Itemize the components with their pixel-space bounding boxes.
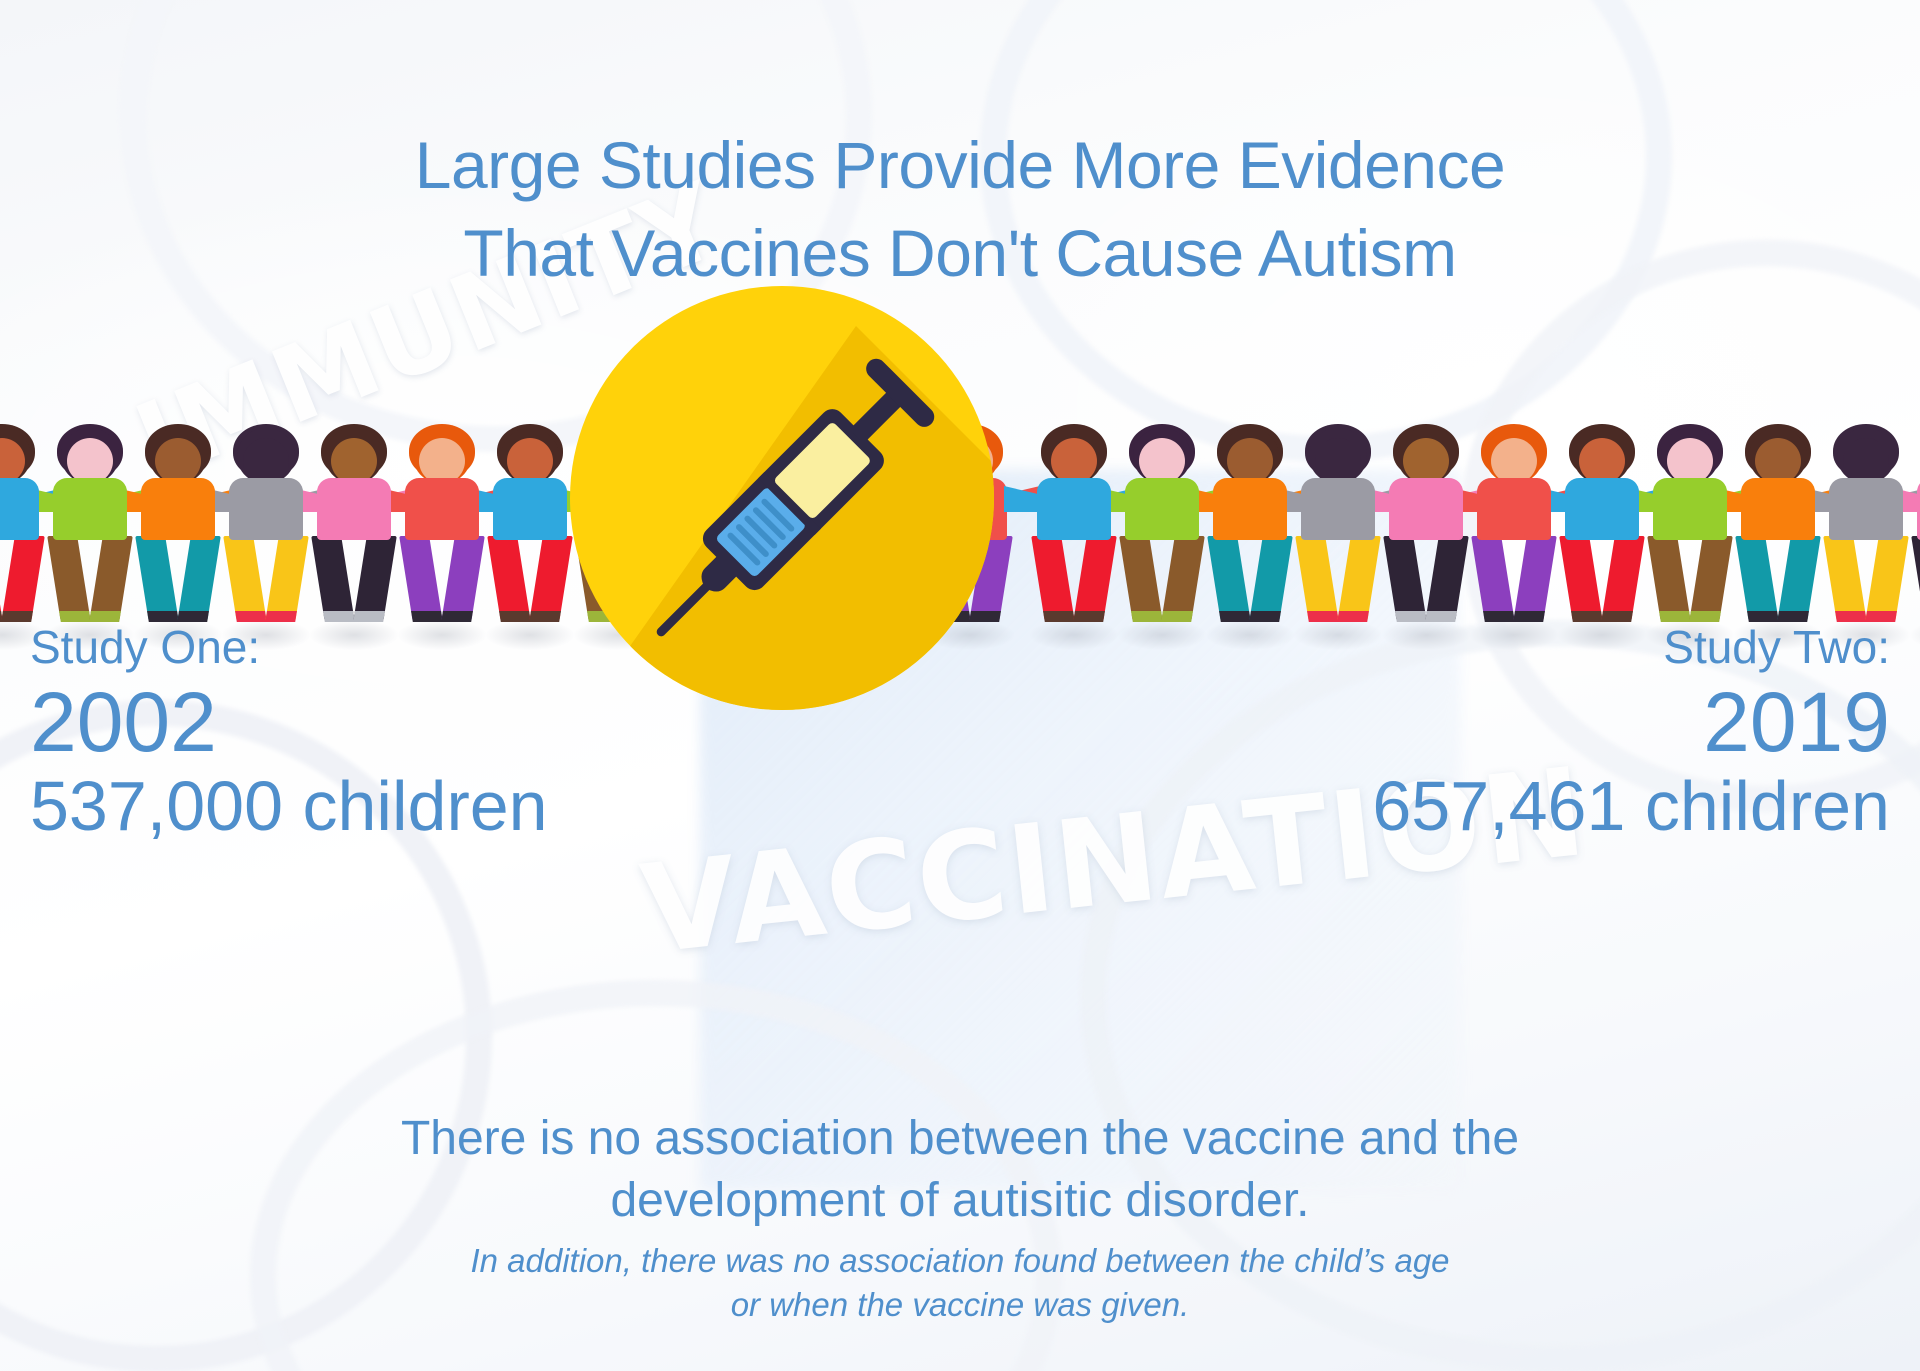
figure-shoe	[1571, 611, 1603, 622]
study-one-stats: Study One: 2002 537,000 children	[30, 622, 548, 845]
figure-torso	[0, 478, 39, 540]
figure-torso	[1037, 478, 1111, 540]
figure-shoe	[1513, 611, 1545, 622]
figure-leg	[1647, 536, 1691, 622]
figure-leg	[1425, 536, 1469, 622]
conclusion-block: There is no association between the vacc…	[0, 1108, 1920, 1327]
paper-doll-figure	[1730, 428, 1826, 628]
conclusion-sub-line-2: or when the vaccine was given.	[0, 1283, 1920, 1327]
conclusion-main: There is no association between the vacc…	[0, 1108, 1920, 1233]
figure-leg	[1735, 536, 1779, 622]
figure-shoe	[1425, 611, 1457, 622]
figure-leg	[1559, 536, 1603, 622]
figure-leg	[1337, 536, 1381, 622]
figure-leg	[177, 536, 221, 622]
figure-leg	[1031, 536, 1075, 622]
figure-shoe	[323, 611, 355, 622]
figure-torso	[1477, 478, 1551, 540]
figure-shoe	[1219, 611, 1251, 622]
figure-torso	[1301, 478, 1375, 540]
figure-shoe	[1, 611, 33, 622]
figure-shoe	[265, 611, 297, 622]
paper-doll-figure	[1818, 428, 1914, 628]
figure-shoe	[411, 611, 443, 622]
figure-leg	[311, 536, 355, 622]
page-title: Large Studies Provide More Evidence That…	[0, 122, 1920, 298]
figure-leg	[1249, 536, 1293, 622]
paper-doll-figure	[1642, 428, 1738, 628]
figure-shoe	[1131, 611, 1163, 622]
figure-shoe	[1249, 611, 1281, 622]
figure-leg	[1689, 536, 1733, 622]
figure-torso	[1653, 478, 1727, 540]
infographic-poster: IMMUNITY VACCINATION Large Studies Provi…	[0, 0, 1920, 1371]
figure-shoe	[1161, 611, 1193, 622]
figure-leg	[47, 536, 91, 622]
figure-torso	[1389, 478, 1463, 540]
page-title-line-2: That Vaccines Don't Cause Autism	[0, 210, 1920, 298]
figure-leg	[399, 536, 443, 622]
page-title-line-1: Large Studies Provide More Evidence	[0, 122, 1920, 210]
figure-leg	[487, 536, 531, 622]
study-two-stats: Study Two: 2019 657,461 children	[1372, 622, 1890, 845]
figure-torso	[53, 478, 127, 540]
figure-shadow	[1294, 620, 1382, 650]
figure-leg	[135, 536, 179, 622]
figure-torso	[1829, 478, 1903, 540]
figure-torso	[1565, 478, 1639, 540]
figure-leg	[1513, 536, 1557, 622]
figure-shoe	[1043, 611, 1075, 622]
figure-shoe	[499, 611, 531, 622]
figure-shoe	[1307, 611, 1339, 622]
study-one-year: 2002	[30, 677, 548, 768]
conclusion-sub-line-1: In addition, there was no association fo…	[0, 1239, 1920, 1283]
conclusion-main-line-2: development of autisitic disorder.	[0, 1170, 1920, 1232]
figure-shoe	[1337, 611, 1369, 622]
figure-shoe	[441, 611, 473, 622]
figure-torso	[317, 478, 391, 540]
figure-leg	[1865, 536, 1909, 622]
figure-leg	[1471, 536, 1515, 622]
figure-leg	[1207, 536, 1251, 622]
paper-doll-figure	[1026, 428, 1122, 628]
figure-shoe	[353, 611, 385, 622]
paper-doll-figure	[394, 428, 490, 628]
study-two-year: 2019	[1372, 677, 1890, 768]
figure-torso	[1741, 478, 1815, 540]
figure-leg	[1777, 536, 1821, 622]
figure-torso	[141, 478, 215, 540]
paper-doll-figure	[306, 428, 402, 628]
paper-doll-figure	[218, 428, 314, 628]
figure-leg	[265, 536, 309, 622]
figure-leg	[1161, 536, 1205, 622]
conclusion-sub: In addition, there was no association fo…	[0, 1239, 1920, 1327]
paper-doll-figure	[1378, 428, 1474, 628]
figure-leg	[89, 536, 133, 622]
figure-leg	[1295, 536, 1339, 622]
figure-leg	[1823, 536, 1867, 622]
figure-leg	[353, 536, 397, 622]
syringe-badge	[556, 286, 1026, 736]
paper-doll-figure	[1290, 428, 1386, 628]
figure-shoe	[1483, 611, 1515, 622]
figure-shoe	[1395, 611, 1427, 622]
figure-shadow	[1206, 620, 1294, 650]
paper-doll-figure	[130, 428, 226, 628]
figure-shoe	[1073, 611, 1105, 622]
paper-doll-figure	[1554, 428, 1650, 628]
figure-leg	[1, 536, 45, 622]
conclusion-main-line-1: There is no association between the vacc…	[0, 1108, 1920, 1170]
figure-shadow	[1118, 620, 1206, 650]
figure-torso	[405, 478, 479, 540]
figure-leg	[1911, 536, 1920, 622]
figure-shoe	[1601, 611, 1633, 622]
figure-leg	[1383, 536, 1427, 622]
figure-torso	[1213, 478, 1287, 540]
syringe-icon	[556, 286, 1026, 736]
paper-doll-figure	[1466, 428, 1562, 628]
paper-doll-figure	[1202, 428, 1298, 628]
figure-shadow	[1030, 620, 1118, 650]
figure-leg	[441, 536, 485, 622]
figure-shadow	[1910, 620, 1920, 650]
figure-leg	[1073, 536, 1117, 622]
paper-doll-chain-right	[1026, 428, 1920, 628]
paper-doll-figure	[42, 428, 138, 628]
study-two-label: Study Two:	[1372, 622, 1890, 673]
study-one-count: 537,000 children	[30, 769, 548, 845]
figure-leg	[1119, 536, 1163, 622]
figure-torso	[229, 478, 303, 540]
figure-leg	[1601, 536, 1645, 622]
paper-doll-figure	[1114, 428, 1210, 628]
paper-doll-figure	[1906, 428, 1920, 628]
study-two-count: 657,461 children	[1372, 769, 1890, 845]
study-one-label: Study One:	[30, 622, 548, 673]
figure-torso	[1125, 478, 1199, 540]
figure-leg	[223, 536, 267, 622]
